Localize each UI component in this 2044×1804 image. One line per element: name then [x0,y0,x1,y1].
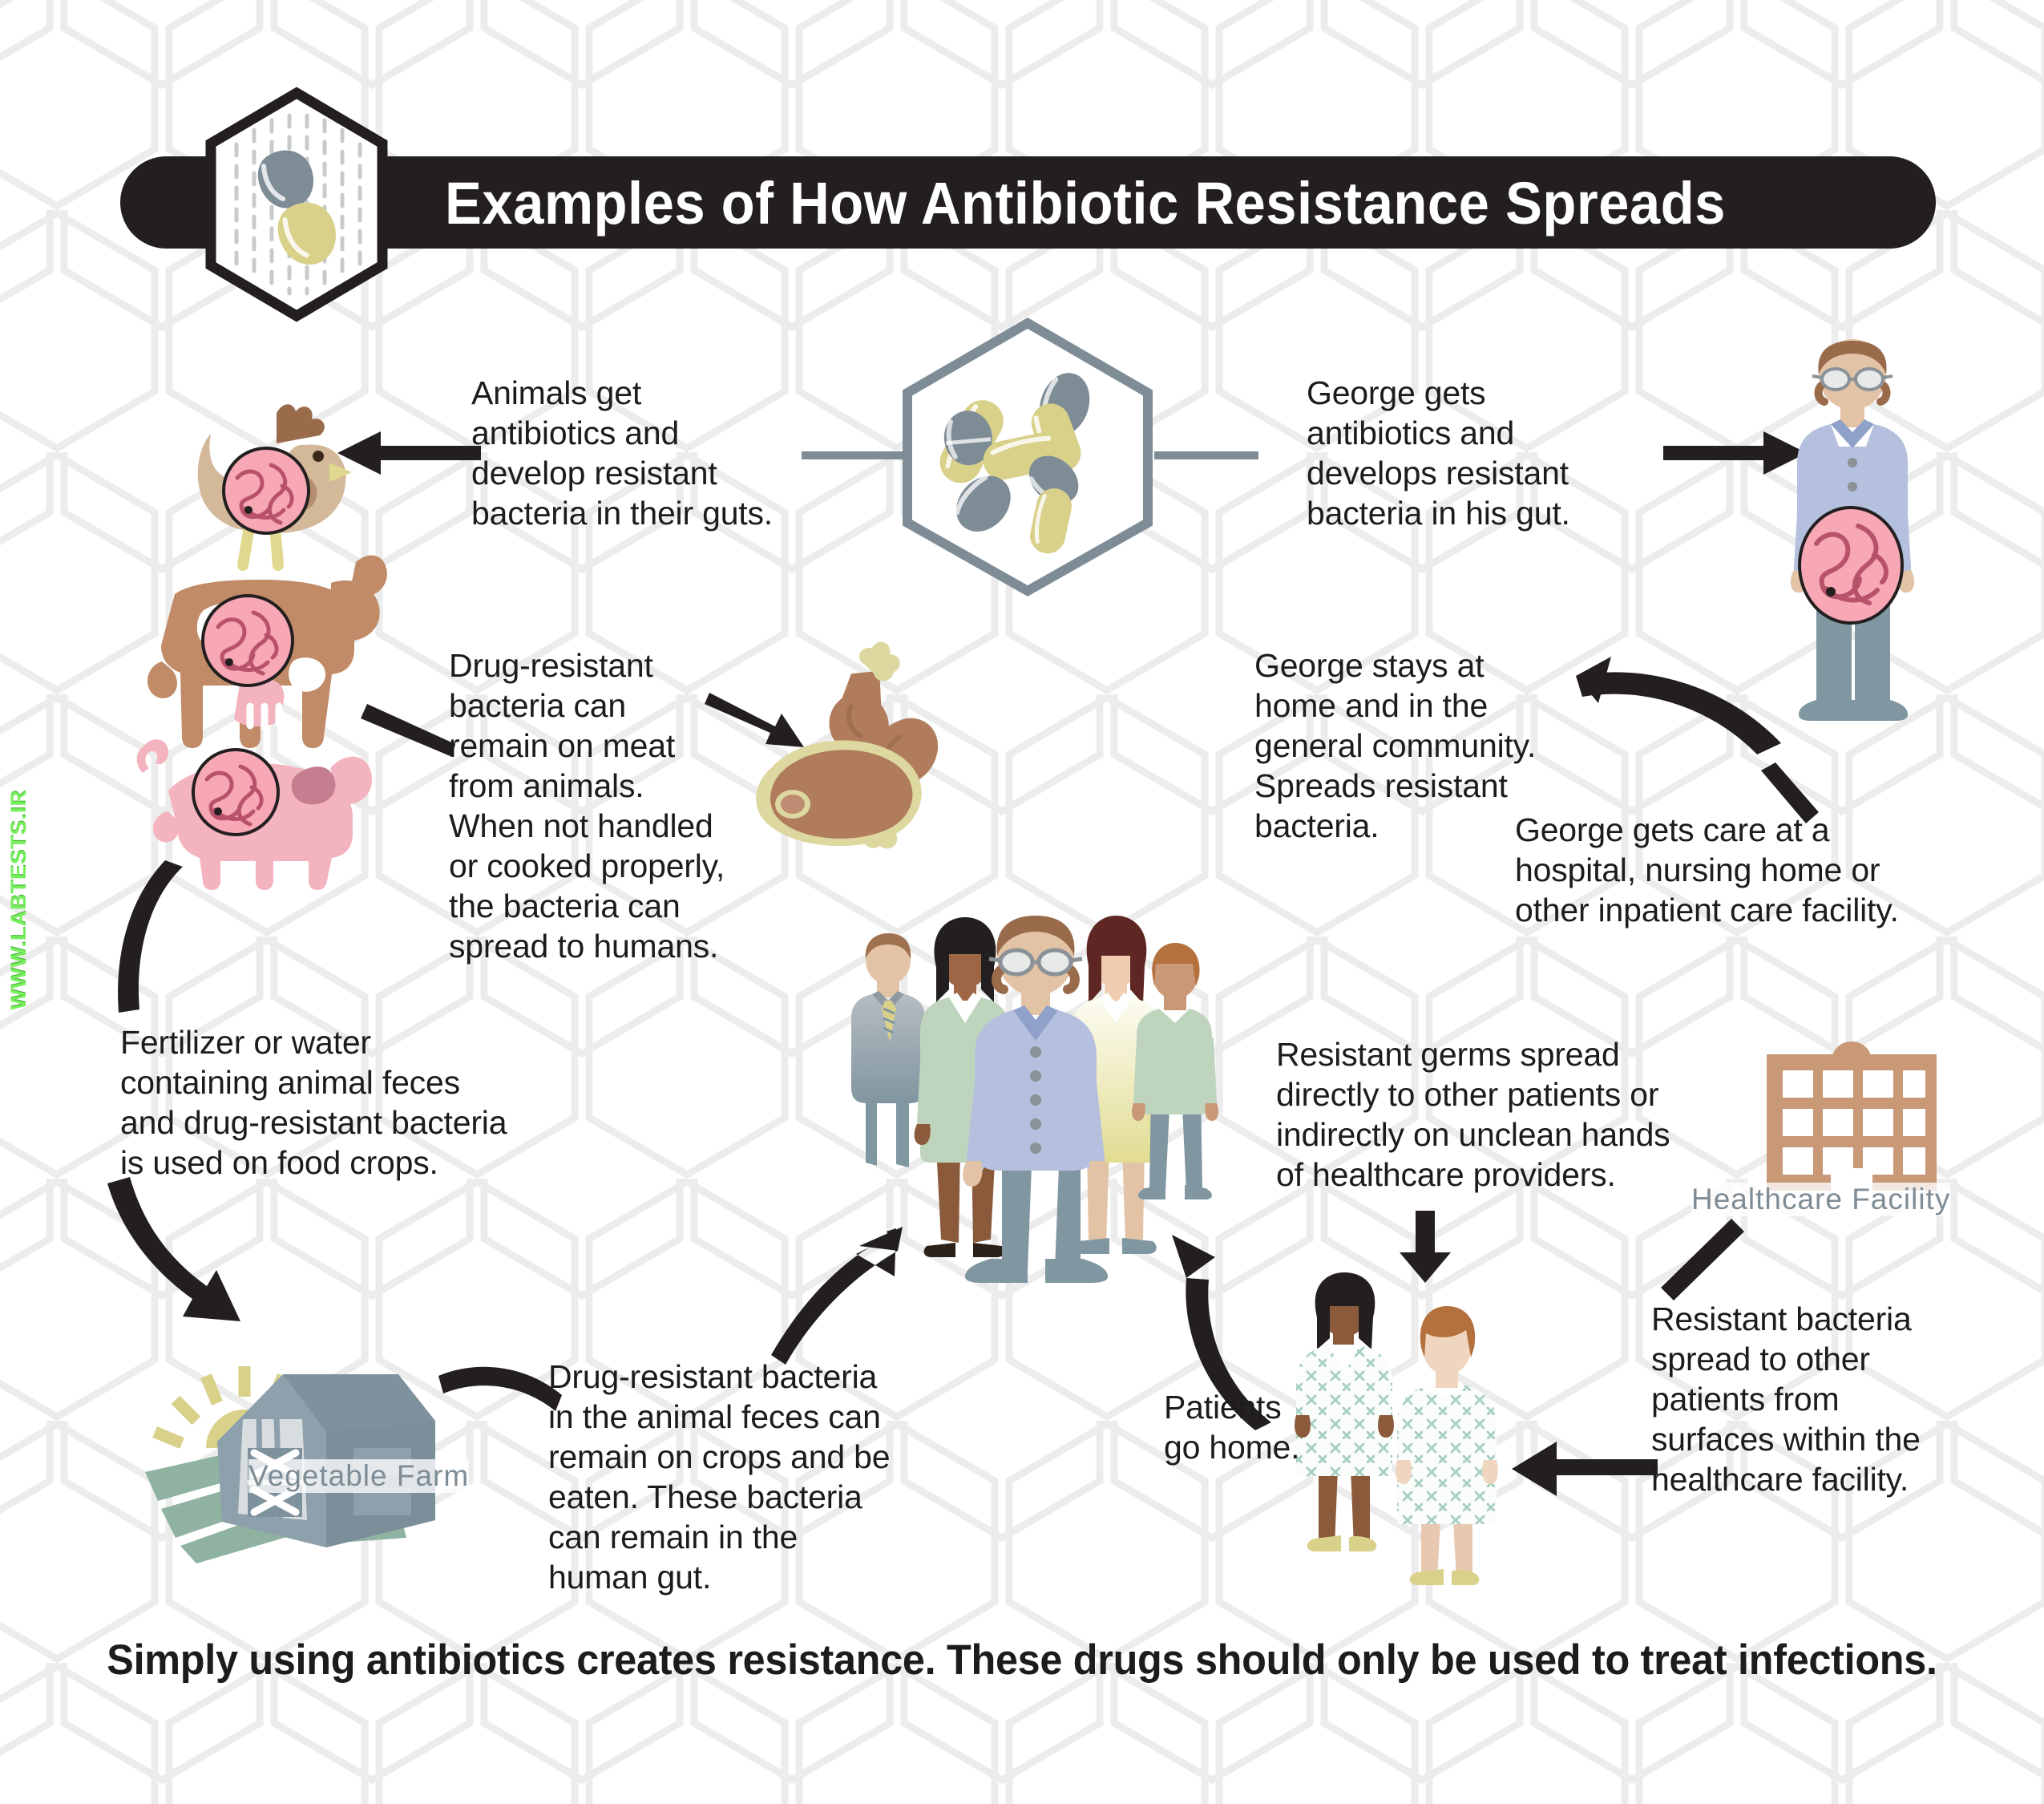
cow-gut-bacteria-icon [200,593,295,688]
pill-capsule-hexagon-icon [204,88,389,321]
vegetable-farm-label: Vegetable Farm [248,1459,469,1493]
george-gut-bacteria-icon [1797,505,1905,625]
step-animals-get-antibiotics: Animals get antibiotics and develop resi… [471,373,808,533]
step-george-gets-antibiotics: George gets antibiotics and develops res… [1307,373,1651,533]
community-group-icon [850,906,1218,1275]
pig-gut-bacteria-icon [191,747,281,837]
pills-hexagon-icon [898,317,1158,597]
step-resistant-bacteria-surfaces: Resistant bacteria spread to other patie… [1651,1299,1996,1499]
hexagon-left-connector [802,449,906,462]
healthcare-facility-icon [1755,1030,1972,1207]
healthcare-facility-label: Healthcare Facility [1691,1183,1950,1216]
step-bacteria-on-crops: Drug-resistant bacteria in the animal fe… [548,1357,965,1597]
hexagon-right-connector [1154,449,1258,462]
meat-icon [749,669,982,854]
vegetable-farm-icon [116,1299,469,1563]
page-title: Examples of How Antibiotic Resistance Sp… [445,165,1712,245]
chicken-gut-bacteria-icon [221,446,311,536]
step-resistant-germs-spread: Resistant germs spread directly to other… [1276,1034,1757,1195]
step-george-gets-care: George gets care at a hospital, nursing … [1515,810,2012,930]
step-fertilizer-or-water: Fertilizer or water containing animal fe… [120,1022,569,1183]
step-drug-resistant-on-meat: Drug-resistant bacteria can remain on me… [449,645,770,966]
arrow-pig-to-fertilizer [112,862,200,1022]
step-patients-go-home: Patients go home. [1164,1387,1324,1467]
arrow-facility-to-surfaces [1651,1219,1747,1307]
site-watermark: WWW.LABTESTS.IR [6,790,31,1009]
arrow-crops-to-community [776,1227,904,1371]
arrow-farm-to-crops-text [437,1363,565,1451]
arrow-animals-to-meat-text [353,698,457,754]
footer-tagline: Simply using antibiotics creates resista… [51,1636,1994,1685]
